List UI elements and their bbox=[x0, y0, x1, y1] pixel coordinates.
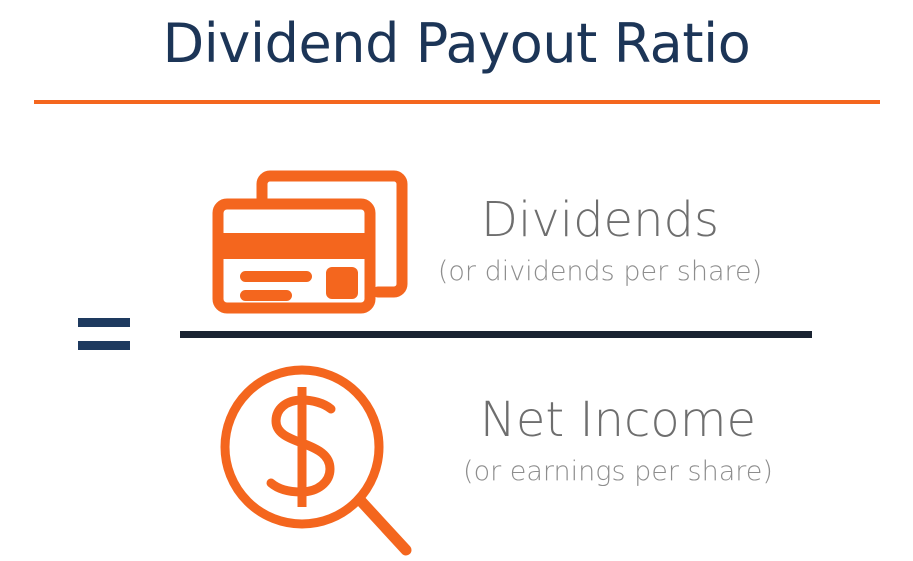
title-divider bbox=[34, 100, 880, 104]
fraction-bar bbox=[180, 331, 812, 338]
credit-card-icon bbox=[212, 162, 412, 317]
infographic-canvas: Dividend Payout Ratio bbox=[0, 0, 913, 561]
denominator-label: Net Income bbox=[448, 396, 788, 444]
numerator-text-group: Dividends (or dividends per share) bbox=[430, 196, 770, 285]
page-title: Dividend Payout Ratio bbox=[0, 17, 913, 71]
equals-bar-bottom bbox=[78, 341, 130, 350]
equals-sign bbox=[78, 318, 130, 350]
numerator-sublabel: (or dividends per share) bbox=[430, 258, 770, 285]
numerator-label: Dividends bbox=[430, 196, 770, 244]
denominator-text-group: Net Income (or earnings per share) bbox=[448, 396, 788, 485]
equals-bar-top bbox=[78, 318, 130, 327]
magnifier-dollar-icon bbox=[214, 362, 416, 557]
denominator-sublabel: (or earnings per share) bbox=[448, 458, 788, 485]
